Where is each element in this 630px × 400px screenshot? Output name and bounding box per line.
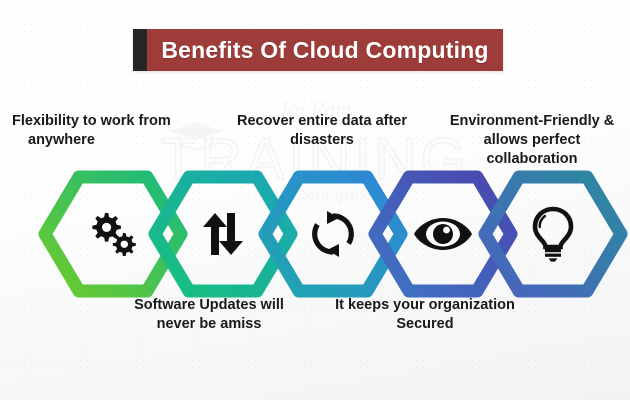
label-environment: Environment-Friendly & allows perfect co… [443, 112, 621, 169]
label-software-updates-line2: never be amiss [112, 315, 306, 334]
label-flexibility: Flexibility to work from anywhere [12, 112, 198, 150]
label-security: It keeps your organization Secured [322, 296, 528, 334]
hexagon-environment[interactable] [478, 168, 628, 300]
label-security-line1: It keeps your organization [322, 296, 528, 315]
label-software-updates-line1: Software Updates will [112, 296, 306, 315]
label-software-updates: Software Updates will never be amiss [112, 296, 306, 334]
infographic-canvas: Jai Ram TRAINING learn and grow Benefits… [0, 0, 630, 400]
label-environment-line3: collaboration [443, 150, 621, 169]
title-accent-bar [133, 29, 147, 71]
page-title: Benefits Of Cloud Computing [161, 37, 488, 64]
label-environment-line2: allows perfect [443, 131, 621, 150]
title-banner: Benefits Of Cloud Computing [133, 29, 503, 71]
hexagon-outline-5 [478, 168, 628, 300]
label-recovery-line2: disasters [222, 131, 422, 150]
label-environment-line1: Environment-Friendly & [443, 112, 621, 131]
title-banner-body: Benefits Of Cloud Computing [147, 29, 503, 71]
label-recovery: Recover entire data after disasters [222, 112, 422, 150]
label-flexibility-line1: Flexibility to work from [12, 112, 198, 131]
label-recovery-line1: Recover entire data after [222, 112, 422, 131]
hexagon-chain [0, 168, 630, 300]
label-flexibility-line2: anywhere [12, 131, 198, 150]
label-security-line2: Secured [322, 315, 528, 334]
